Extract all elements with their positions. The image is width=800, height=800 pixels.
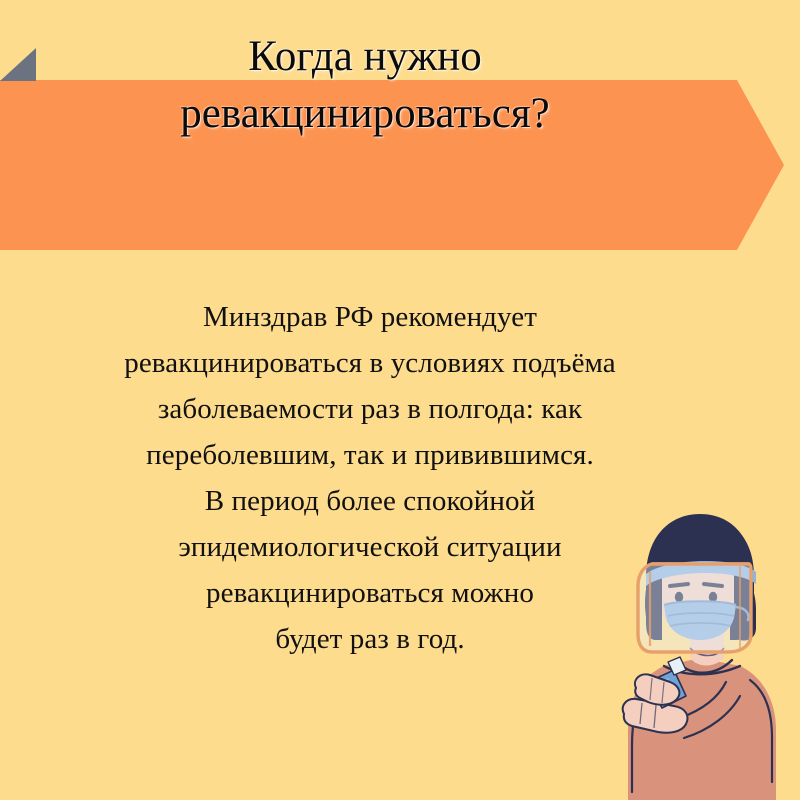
banner-title-group: Когда нужно ревакцинироваться? — [0, 0, 730, 170]
woman-with-face-shield-illustration — [590, 500, 800, 800]
title-line-2: ревакцинироваться? — [180, 85, 549, 142]
slide-canvas: Когда нужно ревакцинироваться? Минздрав … — [0, 0, 800, 800]
body-line-4: переболевшим, так и привившимся. — [40, 432, 700, 478]
body-line-2: ревакцинироваться в условиях подъёма — [40, 340, 700, 386]
title-line-1: Когда нужно — [248, 28, 481, 85]
head-group — [638, 514, 756, 654]
body-line-1: Минздрав РФ рекомендует — [40, 294, 700, 340]
body-line-3: заболеваемости раз в полгода: как — [40, 386, 700, 432]
